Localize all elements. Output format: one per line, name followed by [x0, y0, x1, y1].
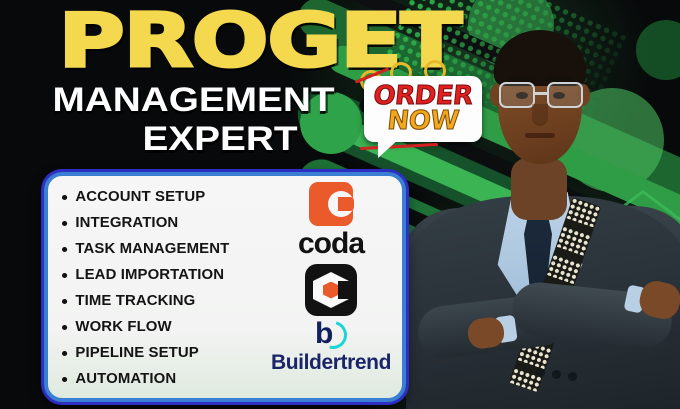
speech-bubble[interactable]: ORDER NOW	[364, 76, 482, 142]
features-list-column: ACCOUNT SETUP INTEGRATION TASK MANAGEMEN…	[48, 176, 260, 398]
nose	[532, 104, 548, 126]
coda-wordmark: coda	[298, 228, 364, 260]
list-item: PIPELINE SETUP	[62, 340, 266, 366]
feature-label: ACCOUNT SETUP	[75, 184, 205, 210]
bullet-icon	[62, 247, 67, 252]
feature-label: TASK MANAGEMENT	[75, 236, 229, 262]
buildertrend-logo-icon: b	[313, 321, 349, 353]
list-item: INTEGRATION	[62, 210, 266, 236]
suit-button	[568, 372, 577, 381]
list-item: ACCOUNT SETUP	[62, 184, 266, 210]
coda-hexagon-logo-icon	[305, 264, 357, 316]
badge-label-now: NOW	[369, 108, 478, 134]
bullet-icon	[62, 325, 67, 330]
feature-label: AUTOMATION	[75, 366, 176, 392]
badge-label-order: ORDER	[369, 84, 478, 108]
bullet-icon	[62, 377, 67, 382]
coda-logo-icon	[309, 182, 353, 226]
suit-button	[552, 370, 561, 379]
lens-left	[499, 82, 535, 108]
list-item: WORK FLOW	[62, 314, 266, 340]
list-item: LEAD IMPORTATION	[62, 262, 266, 288]
bullet-icon	[62, 351, 67, 356]
bullet-icon	[62, 221, 67, 226]
features-card: ACCOUNT SETUP INTEGRATION TASK MANAGEMEN…	[44, 172, 406, 402]
neck	[511, 158, 567, 220]
feature-label: TIME TRACKING	[75, 288, 195, 314]
feature-label: WORK FLOW	[75, 314, 171, 340]
buildertrend-letter: b	[315, 319, 333, 349]
buildertrend-wordmark: Buildertrend	[271, 352, 391, 374]
hexagon-ring	[313, 272, 349, 308]
promo-poster: PROGET MANAGEMENT EXPERT ORDER NOW ACCOU…	[0, 0, 680, 409]
feature-label: PIPELINE SETUP	[75, 340, 198, 366]
bullet-icon	[62, 195, 67, 200]
businessman-portrait	[412, 0, 680, 409]
bullet-icon	[62, 273, 67, 278]
hexagon-notch	[338, 281, 358, 299]
list-item: AUTOMATION	[62, 366, 266, 392]
suit-button	[536, 368, 545, 377]
lens-right	[547, 82, 583, 108]
list-item: TIME TRACKING	[62, 288, 266, 314]
logos-column: coda b Buildertrend	[260, 176, 402, 398]
feature-label: LEAD IMPORTATION	[75, 262, 224, 288]
hexagon-core	[323, 282, 340, 299]
list-item: TASK MANAGEMENT	[62, 236, 266, 262]
feature-label: INTEGRATION	[75, 210, 178, 236]
order-now-badge[interactable]: ORDER NOW	[364, 76, 482, 142]
features-list: ACCOUNT SETUP INTEGRATION TASK MANAGEMEN…	[62, 184, 260, 392]
bullet-icon	[62, 299, 67, 304]
mouth	[525, 133, 555, 138]
